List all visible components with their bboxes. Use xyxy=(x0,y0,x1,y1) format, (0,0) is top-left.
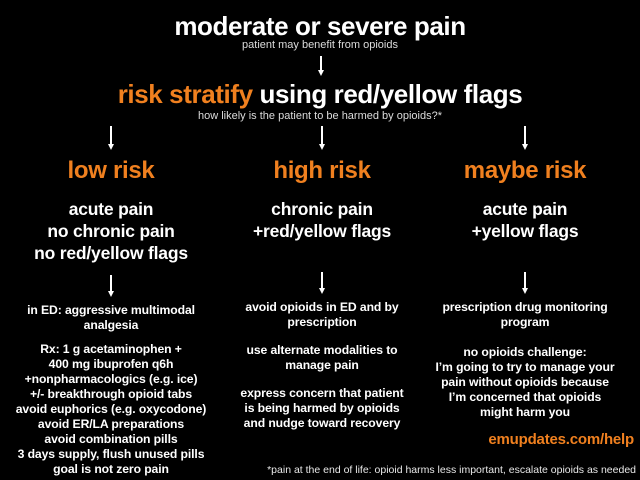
criteria-line: no chronic pain xyxy=(0,220,222,242)
column-details-high-risk: avoid opioids in ED and by prescription … xyxy=(218,300,426,431)
detail-line: I’m going to try to manage your xyxy=(420,360,630,375)
arrow-title-to-stratify xyxy=(320,56,322,76)
column-heading-high-risk-text: high risk xyxy=(218,157,426,184)
risk-stratify-rest: using red/yellow flags xyxy=(253,79,523,109)
arrow-stratify-to-high xyxy=(321,126,323,150)
footnote: *pain at the end of life: opioid harms l… xyxy=(0,460,636,478)
column-criteria-maybe-risk: acute pain +yellow flags xyxy=(420,198,630,242)
detail-line: +/- breakthrough opioid tabs xyxy=(0,387,222,402)
detail-line: pain without opioids because xyxy=(420,375,630,390)
page-subtitle-text: patient may benefit from opioids xyxy=(0,39,640,52)
detail-line: is being harmed by opioids xyxy=(218,401,426,416)
arrow-stratify-to-maybe xyxy=(524,126,526,150)
detail-block: avoid opioids in ED and by prescription xyxy=(218,300,426,330)
detail-line: I’m concerned that opioids xyxy=(420,390,630,405)
column-details-maybe-risk: prescription drug monitoring program no … xyxy=(420,300,630,420)
detail-line: avoid opioids in ED and by xyxy=(218,300,426,315)
page-title-text: moderate or severe pain xyxy=(0,12,640,40)
detail-block: in ED: aggressive multimodal analgesia xyxy=(0,303,222,333)
detail-line: program xyxy=(420,315,630,330)
column-criteria-low-risk: acute pain no chronic pain no red/yellow… xyxy=(0,198,222,264)
detail-line: and nudge toward recovery xyxy=(218,416,426,431)
risk-stratify-accent: risk stratify xyxy=(118,79,253,109)
risk-stratify-title: risk stratify using red/yellow flags xyxy=(0,80,640,108)
infographic-canvas: moderate or severe pain patient may bene… xyxy=(0,0,640,480)
footnote-accent: *pain at the end of life: xyxy=(267,464,372,476)
detail-line: analgesia xyxy=(0,318,222,333)
criteria-line: +yellow flags xyxy=(420,220,630,242)
detail-line: in ED: aggressive multimodal xyxy=(0,303,222,318)
detail-block: Rx: 1 g acetaminophen + 400 mg ibuprofen… xyxy=(0,342,222,477)
detail-line: +nonpharmacologics (e.g. ice) xyxy=(0,372,222,387)
arrow-low-to-details xyxy=(110,275,112,297)
detail-line: express concern that patient xyxy=(218,386,426,401)
detail-line: avoid euphorics (e.g. oxycodone) xyxy=(0,402,222,417)
column-heading-low-risk-text: low risk xyxy=(0,157,222,184)
detail-line: might harm you xyxy=(420,405,630,420)
site-url[interactable]: emupdates.com/help xyxy=(0,431,634,449)
detail-line: manage pain xyxy=(218,358,426,373)
detail-block: prescription drug monitoring program xyxy=(420,300,630,330)
detail-block: no opioids challenge: I’m going to try t… xyxy=(420,345,630,420)
criteria-line: acute pain xyxy=(420,198,630,220)
criteria-line: chronic pain xyxy=(218,198,426,220)
arrow-stratify-to-low xyxy=(110,126,112,150)
detail-line: prescription xyxy=(218,315,426,330)
detail-line: Rx: 1 g acetaminophen + xyxy=(0,342,222,357)
column-heading-high-risk: high risk xyxy=(218,157,426,184)
detail-line: no opioids challenge: xyxy=(420,345,630,360)
detail-line: prescription drug monitoring xyxy=(420,300,630,315)
site-url-text[interactable]: emupdates.com/help xyxy=(488,431,634,448)
risk-stratify-subtitle-text: how likely is the patient to be harmed b… xyxy=(0,110,640,123)
page-title: moderate or severe pain xyxy=(0,12,640,40)
arrow-maybe-to-details xyxy=(524,272,526,294)
detail-block: use alternate modalities to manage pain xyxy=(218,343,426,373)
detail-block: express concern that patient is being ha… xyxy=(218,386,426,431)
criteria-line: +red/yellow flags xyxy=(218,220,426,242)
column-criteria-high-risk: chronic pain +red/yellow flags xyxy=(218,198,426,242)
column-details-low-risk: in ED: aggressive multimodal analgesia R… xyxy=(0,303,222,477)
column-heading-low-risk: low risk xyxy=(0,157,222,184)
page-subtitle: patient may benefit from opioids xyxy=(0,39,640,52)
detail-line: 400 mg ibuprofen q6h xyxy=(0,357,222,372)
footnote-rest: opioid harms less important, escalate op… xyxy=(372,464,636,476)
arrow-high-to-details xyxy=(321,272,323,294)
detail-line: use alternate modalities to xyxy=(218,343,426,358)
detail-line: avoid ER/LA preparations xyxy=(0,417,222,432)
column-heading-maybe-risk: maybe risk xyxy=(420,157,630,184)
criteria-line: no red/yellow flags xyxy=(0,242,222,264)
risk-stratify-subtitle: how likely is the patient to be harmed b… xyxy=(0,110,640,123)
column-heading-maybe-risk-text: maybe risk xyxy=(420,157,630,184)
criteria-line: acute pain xyxy=(0,198,222,220)
